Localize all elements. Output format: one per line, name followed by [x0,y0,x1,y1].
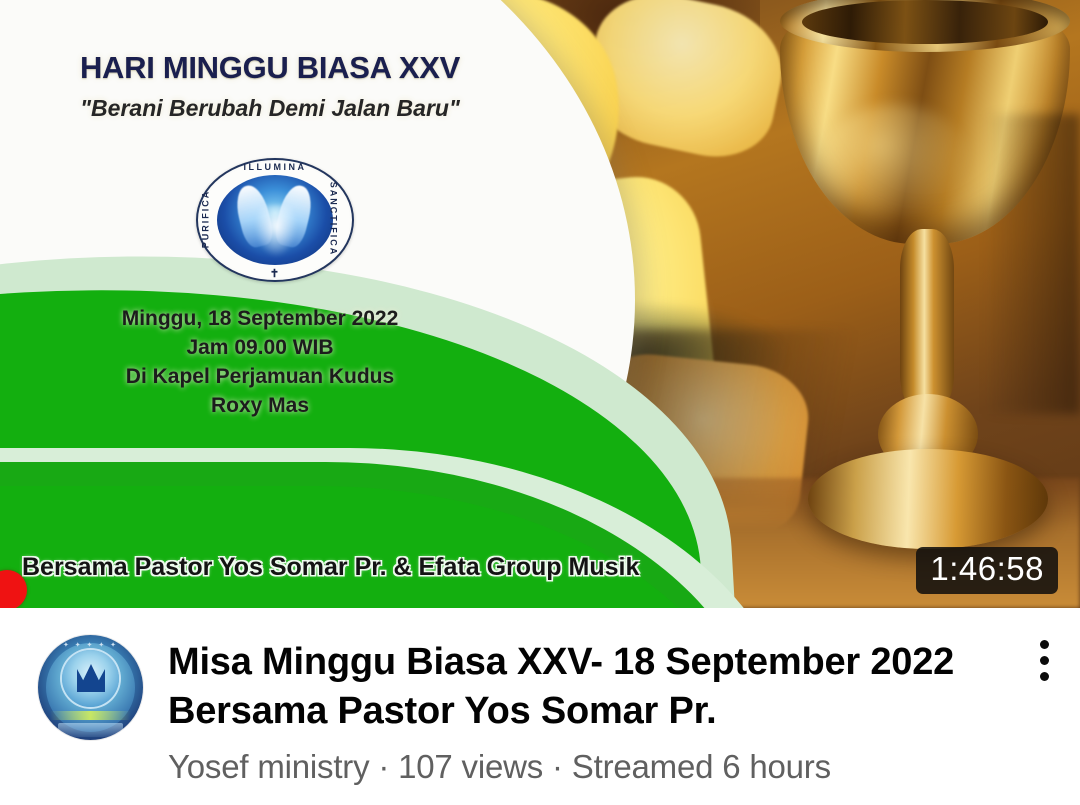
poster-info-line: Minggu, 18 September 2022 [0,305,520,334]
poster-title: HARI MINGGU BIASA XXV [0,50,540,86]
avatar-emblem [62,650,119,707]
poster-info-block: Minggu, 18 September 2022 Jam 09.00 WIB … [0,305,520,421]
poster-banner-text: Bersama Pastor Yos Somar Pr. & Efata Gro… [22,553,642,582]
cross-icon: ✝ [270,267,280,280]
poster-info-line: Jam 09.00 WIB [0,334,520,363]
video-title[interactable]: Misa Minggu Biasa XXV- 18 September 2022… [168,638,988,735]
poster-info-line: Roxy Mas [0,392,520,421]
kebab-dot [1040,656,1049,665]
video-metadata: Yosef ministry · 107 views · Streamed 6 … [168,748,1068,786]
avatar-crown-icon [77,664,105,692]
chalice-interior [802,0,1048,44]
kebab-dot [1040,640,1049,649]
chalice-shade [960,114,1080,414]
avatar-subtext-band [58,723,123,737]
kebab-dot [1040,672,1049,681]
illumina-logo: ILLUMINA SANCTIFICA PURIFICA ✝ [196,158,354,282]
logo-text-purifica: PURIFICA [200,190,210,249]
logo-ring-text: ILLUMINA SANCTIFICA PURIFICA ✝ [196,158,354,282]
avatar-stars: ✦ ✦ ✦ ✦ ✦ [38,641,143,649]
channel-avatar[interactable]: ✦ ✦ ✦ ✦ ✦ [38,635,143,740]
chalice-highlight [820,104,970,224]
poster-subtitle: "Berani Berubah Demi Jalan Baru" [0,95,540,122]
duration-badge: 1:46:58 [916,547,1058,594]
chalice-base [808,449,1048,549]
avatar-text-band [50,711,131,720]
poster-info-line: Di Kapel Perjamuan Kudus [0,363,520,392]
logo-text-sanctifica: SANCTIFICA [328,182,338,257]
video-thumbnail[interactable]: HARI MINGGU BIASA XXV "Berani Berubah De… [0,0,1080,608]
logo-text-illumina: ILLUMINA [244,162,307,172]
kebab-menu-icon[interactable] [1024,640,1064,690]
chalice-icon [760,0,1080,594]
chalice-stem [900,229,954,414]
video-meta-row: ✦ ✦ ✦ ✦ ✦ Misa Minggu Biasa XXV- 18 Sept… [0,608,1080,805]
